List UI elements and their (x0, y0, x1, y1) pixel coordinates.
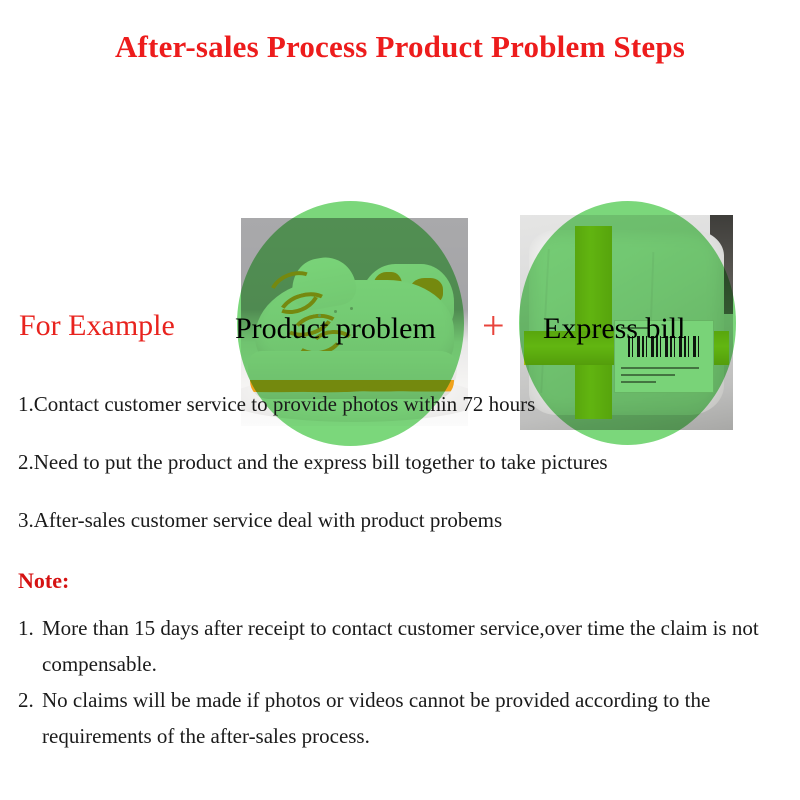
note-heading: Note: (18, 568, 790, 594)
express-bill-caption: Express bill (543, 312, 686, 346)
plus-icon: + (482, 306, 505, 346)
note-marker: 1. (18, 610, 42, 682)
page-title: After-sales Process Product Problem Step… (0, 29, 800, 65)
note-marker: 2. (18, 682, 42, 754)
steps-list: 1.Contact customer service to provide ph… (18, 392, 788, 566)
label-text-line (621, 374, 676, 376)
step-item-2: 2.Need to put the product and the expres… (18, 450, 788, 474)
product-problem-caption: Product problem (235, 312, 436, 346)
for-example-label: For Example (19, 309, 175, 343)
example-row: For Example Product problem + (0, 100, 800, 345)
step-item-1: 1.Contact customer service to provide ph… (18, 392, 788, 416)
step-item-3: 3.After-sales customer service deal with… (18, 508, 788, 532)
note-item-1: 1. More than 15 days after receipt to co… (18, 610, 790, 682)
note-section: Note: 1. More than 15 days after receipt… (18, 568, 790, 754)
note-text: More than 15 days after receipt to conta… (42, 610, 790, 682)
note-text: No claims will be made if photos or vide… (42, 682, 790, 754)
label-text-line (621, 367, 699, 369)
note-item-2: 2. No claims will be made if photos or v… (18, 682, 790, 754)
label-text-line (621, 381, 656, 383)
